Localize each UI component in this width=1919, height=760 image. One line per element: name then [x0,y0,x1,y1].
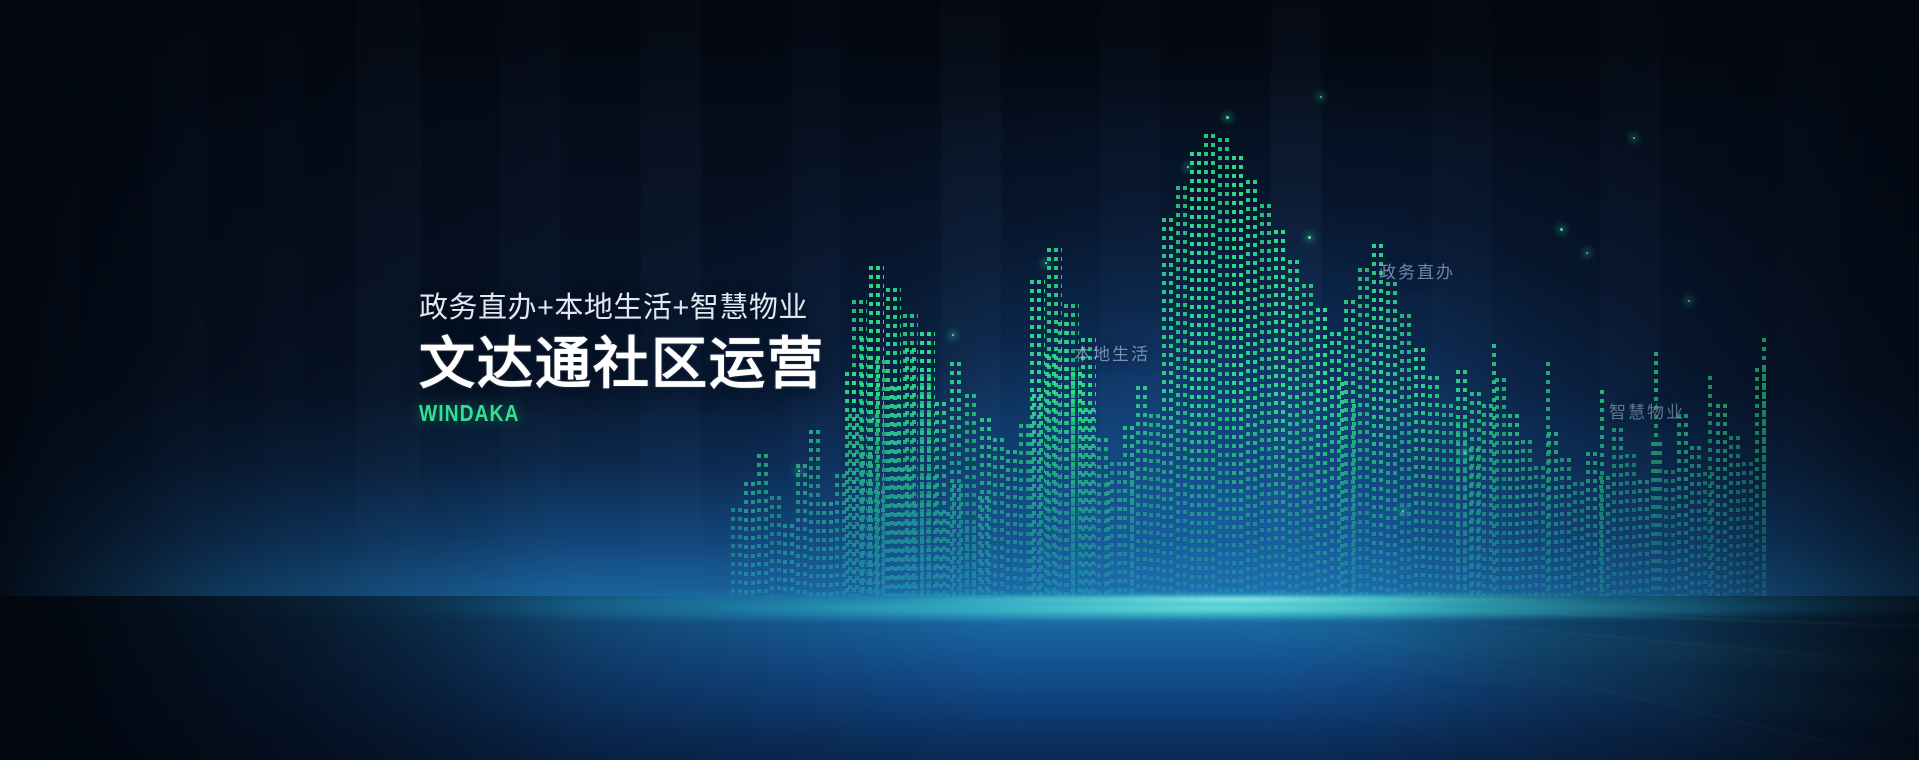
banner-headline: 文达通社区运营 [419,334,825,393]
brand-wordmark: WINDAKA [419,400,760,427]
perspective-floor [0,596,1919,760]
hero-banner: 本地生活政务直办智慧物业 政务直办+本地生活+智慧物业 文达通社区运营 WIND… [0,0,1919,760]
skyline-label: 智慧物业 [1609,398,1685,423]
banner-subtitle: 政务直办+本地生活+智慧物业 [419,290,825,326]
floor-shadow-right [0,596,1919,760]
skyline-label: 政务直办 [1379,258,1455,283]
skyline-label: 本地生活 [1074,340,1150,365]
headline-copy-block: 政务直办+本地生活+智慧物业 文达通社区运营 WINDAKA [419,290,825,427]
